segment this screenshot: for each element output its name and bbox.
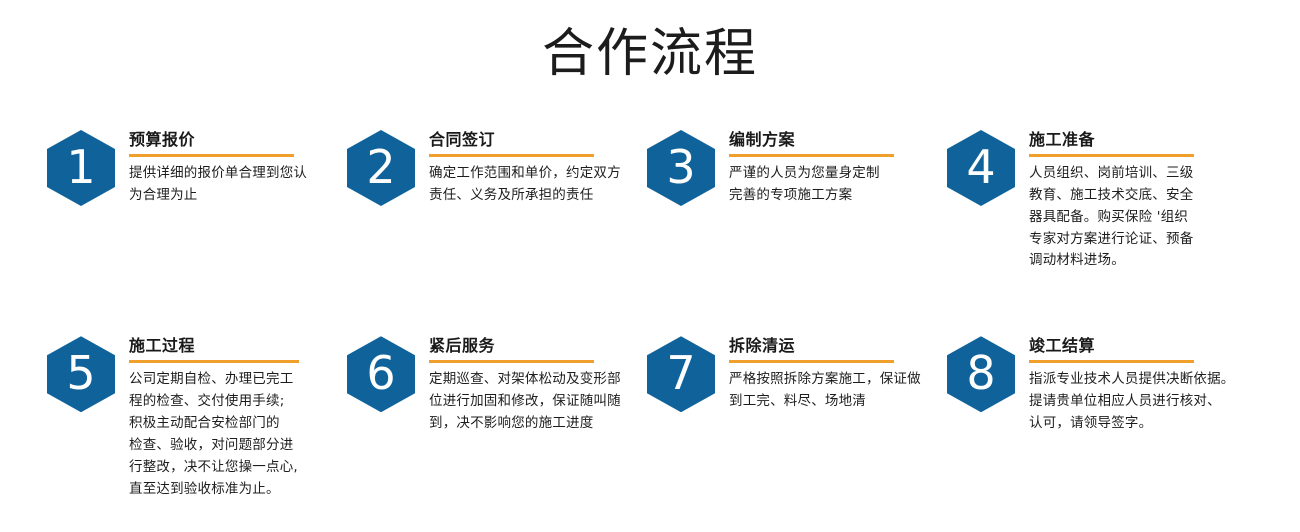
- step-title-2: 合同签订: [429, 130, 647, 150]
- step-underline-6: [429, 360, 594, 363]
- description-line: 确定工作范围和单价，约定双方: [429, 163, 639, 185]
- description-line: 提请贵单位相应人员进行核对、: [1029, 391, 1229, 413]
- description-line: 位进行加固和修改，保证随叫随: [429, 391, 639, 413]
- step-text-4: 施工准备 人员组织、岗前培训、三级 教育、施工技术交底、安全 器具配备。购买保险…: [1029, 126, 1247, 272]
- step-item-8[interactable]: 8 竣工结算 指派专业技术人员提供决断依据。 提请贵单位相应人员进行核对、 认可…: [947, 332, 1247, 500]
- description-line: 直至达到验收标准为止。: [129, 479, 334, 501]
- page-title: 合作流程: [0, 0, 1300, 98]
- steps-row-1: 1 预算报价 提供详细的报价单合理到您认 为合理为止 2 合同签订: [0, 126, 1300, 272]
- step-underline-8: [1029, 360, 1194, 363]
- step-text-8: 竣工结算 指派专业技术人员提供决断依据。 提请贵单位相应人员进行核对、 认可，请…: [1029, 332, 1247, 435]
- step-underline-4: [1029, 154, 1194, 157]
- description-line: 器具配备。购买保险 '组织: [1029, 207, 1229, 229]
- step-text-2: 合同签订 确定工作范围和单价，约定双方 责任、义务及所承担的责任: [429, 126, 647, 207]
- description-line: 行整改，决不让您操一点心,: [129, 457, 334, 479]
- description-line: 教育、施工技术交底、安全: [1029, 185, 1229, 207]
- description-line: 检查、验收，对问题部分进: [129, 435, 334, 457]
- step-title-6: 紧后服务: [429, 336, 647, 356]
- description-line: 调动材料进场。: [1029, 250, 1229, 272]
- description-line: 提供详细的报价单合理到您认: [129, 163, 334, 185]
- step-description-7: 严格按照拆除方案施工，保证做 到工完、料尽、场地清: [729, 369, 924, 413]
- description-line: 认可，请领导签字。: [1029, 413, 1229, 435]
- description-line: 人员组织、岗前培训、三级: [1029, 163, 1229, 185]
- step-number-4: 4: [947, 130, 1015, 206]
- description-line: 到工完、料尽、场地清: [729, 391, 924, 413]
- description-line: 为合理为止: [129, 185, 334, 207]
- step-number-6: 6: [347, 336, 415, 412]
- step-number-7: 7: [647, 336, 715, 412]
- step-underline-7: [729, 360, 894, 363]
- hexagon-badge-1: 1: [47, 130, 115, 206]
- step-title-1: 预算报价: [129, 130, 347, 150]
- description-line: 指派专业技术人员提供决断依据。: [1029, 369, 1229, 391]
- step-title-5: 施工过程: [129, 336, 347, 356]
- description-line: 严格按照拆除方案施工，保证做: [729, 369, 924, 391]
- description-line: 定期巡查、对架体松动及变形部: [429, 369, 639, 391]
- step-description-3: 严谨的人员为您量身定制 完善的专项施工方案: [729, 163, 924, 207]
- step-description-2: 确定工作范围和单价，约定双方 责任、义务及所承担的责任: [429, 163, 639, 207]
- step-number-1: 1: [47, 130, 115, 206]
- step-description-5: 公司定期自检、办理已完工 程的检查、交付使用手续; 积极主动配合安检部门的 检查…: [129, 369, 334, 500]
- step-item-1[interactable]: 1 预算报价 提供详细的报价单合理到您认 为合理为止: [47, 126, 347, 272]
- step-description-4: 人员组织、岗前培训、三级 教育、施工技术交底、安全 器具配备。购买保险 '组织 …: [1029, 163, 1229, 272]
- step-item-3[interactable]: 3 编制方案 严谨的人员为您量身定制 完善的专项施工方案: [647, 126, 947, 272]
- step-title-4: 施工准备: [1029, 130, 1247, 150]
- step-text-1: 预算报价 提供详细的报价单合理到您认 为合理为止: [129, 126, 347, 207]
- step-text-3: 编制方案 严谨的人员为您量身定制 完善的专项施工方案: [729, 126, 947, 207]
- step-number-2: 2: [347, 130, 415, 206]
- step-text-7: 拆除清运 严格按照拆除方案施工，保证做 到工完、料尽、场地清: [729, 332, 947, 413]
- description-line: 积极主动配合安检部门的: [129, 413, 334, 435]
- description-line: 到，决不影响您的施工进度: [429, 413, 639, 435]
- description-line: 完善的专项施工方案: [729, 185, 924, 207]
- step-text-5: 施工过程 公司定期自检、办理已完工 程的检查、交付使用手续; 积极主动配合安检部…: [129, 332, 347, 500]
- step-item-7[interactable]: 7 拆除清运 严格按照拆除方案施工，保证做 到工完、料尽、场地清: [647, 332, 947, 500]
- step-underline-1: [129, 154, 294, 157]
- hexagon-badge-6: 6: [347, 336, 415, 412]
- hexagon-badge-5: 5: [47, 336, 115, 412]
- step-item-6[interactable]: 6 紧后服务 定期巡查、对架体松动及变形部 位进行加固和修改，保证随叫随 到，决…: [347, 332, 647, 500]
- step-description-8: 指派专业技术人员提供决断依据。 提请贵单位相应人员进行核对、 认可，请领导签字。: [1029, 369, 1229, 435]
- description-line: 程的检查、交付使用手续;: [129, 391, 334, 413]
- description-line: 严谨的人员为您量身定制: [729, 163, 924, 185]
- description-line: 专家对方案进行论证、预备: [1029, 229, 1229, 251]
- step-text-6: 紧后服务 定期巡查、对架体松动及变形部 位进行加固和修改，保证随叫随 到，决不影…: [429, 332, 647, 435]
- description-line: 公司定期自检、办理已完工: [129, 369, 334, 391]
- step-item-5[interactable]: 5 施工过程 公司定期自检、办理已完工 程的检查、交付使用手续; 积极主动配合安…: [47, 332, 347, 500]
- hexagon-badge-2: 2: [347, 130, 415, 206]
- step-item-2[interactable]: 2 合同签订 确定工作范围和单价，约定双方 责任、义务及所承担的责任: [347, 126, 647, 272]
- step-item-4[interactable]: 4 施工准备 人员组织、岗前培训、三级 教育、施工技术交底、安全 器具配备。购买…: [947, 126, 1247, 272]
- step-title-7: 拆除清运: [729, 336, 947, 356]
- hexagon-badge-3: 3: [647, 130, 715, 206]
- step-underline-3: [729, 154, 894, 157]
- hexagon-badge-8: 8: [947, 336, 1015, 412]
- steps-row-2: 5 施工过程 公司定期自检、办理已完工 程的检查、交付使用手续; 积极主动配合安…: [0, 332, 1300, 500]
- step-number-3: 3: [647, 130, 715, 206]
- description-line: 责任、义务及所承担的责任: [429, 185, 639, 207]
- steps-grid: 1 预算报价 提供详细的报价单合理到您认 为合理为止 2 合同签订: [0, 126, 1300, 500]
- step-description-6: 定期巡查、对架体松动及变形部 位进行加固和修改，保证随叫随 到，决不影响您的施工…: [429, 369, 639, 435]
- step-number-5: 5: [47, 336, 115, 412]
- step-underline-5: [129, 360, 299, 363]
- hexagon-badge-7: 7: [647, 336, 715, 412]
- step-description-1: 提供详细的报价单合理到您认 为合理为止: [129, 163, 334, 207]
- step-title-8: 竣工结算: [1029, 336, 1247, 356]
- hexagon-badge-4: 4: [947, 130, 1015, 206]
- step-title-3: 编制方案: [729, 130, 947, 150]
- step-underline-2: [429, 154, 594, 157]
- step-number-8: 8: [947, 336, 1015, 412]
- cooperation-process-infographic: 合作流程 1 预算报价 提供详细的报价单合理到您认 为合理为止: [0, 0, 1300, 532]
